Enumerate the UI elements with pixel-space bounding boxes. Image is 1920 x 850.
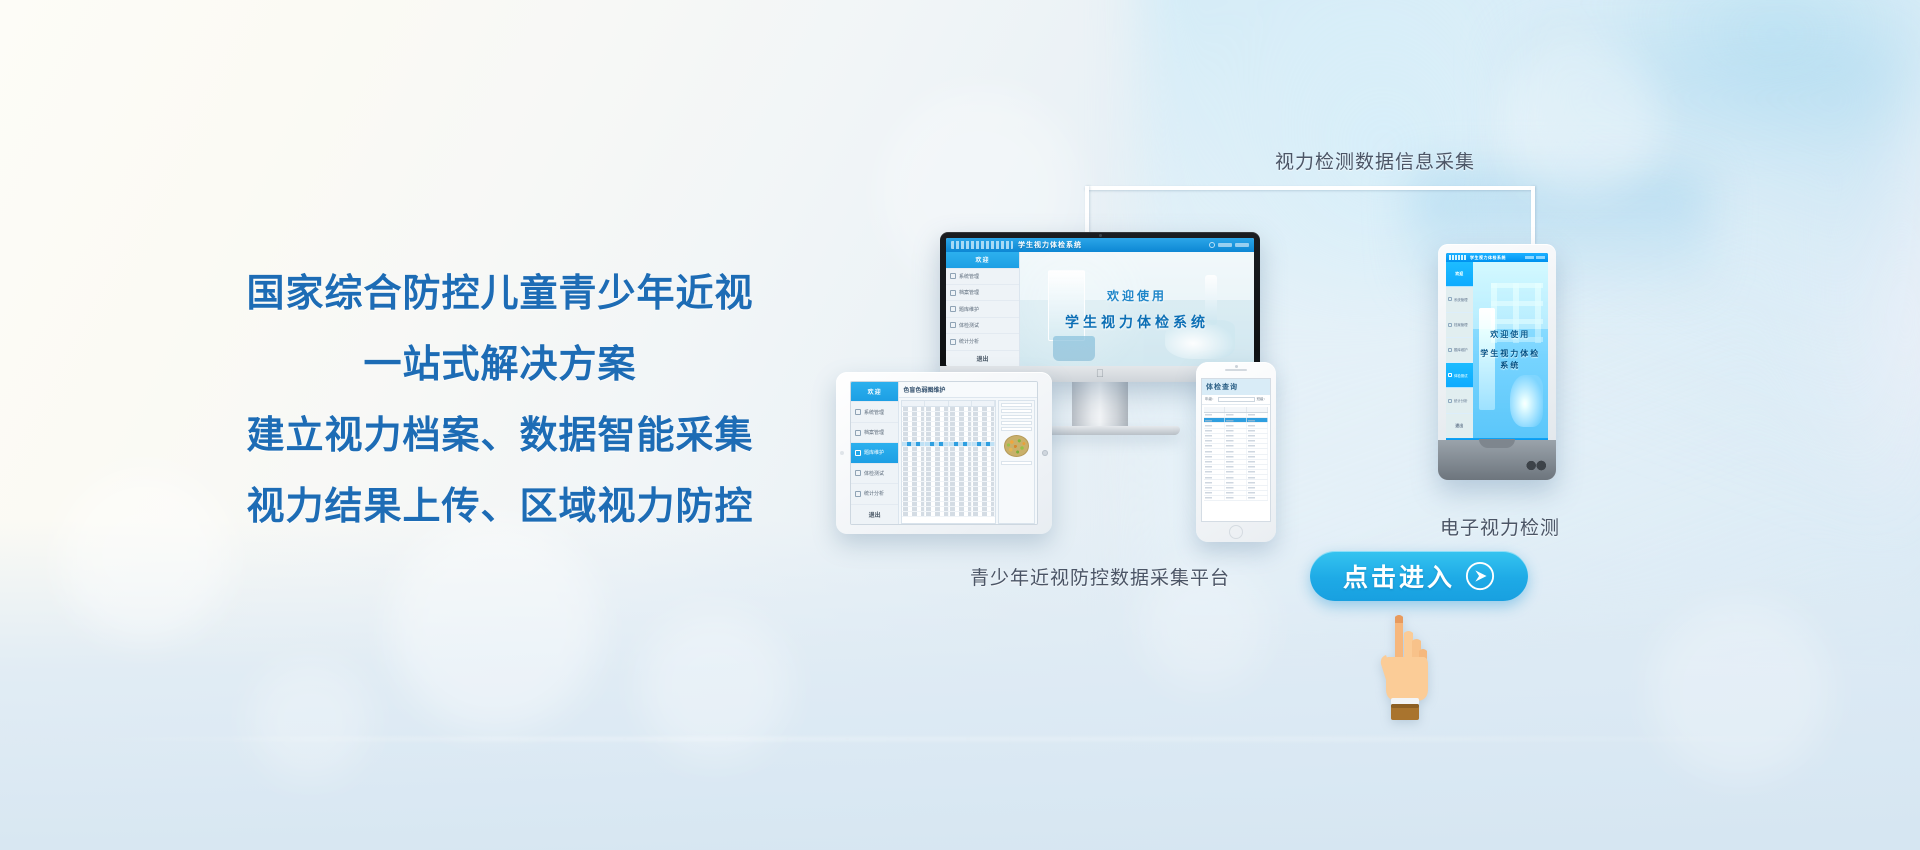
sidebar-item-exam[interactable]: 体检测试 bbox=[1446, 363, 1473, 388]
headline-line-2: 一站式解决方案 bbox=[180, 329, 820, 400]
phone-home-button[interactable] bbox=[1229, 525, 1243, 539]
sidebar-item-exam[interactable]: 体检测试 bbox=[946, 318, 1019, 334]
database-icon bbox=[855, 450, 861, 456]
kiosk-welcome-line-2: 学生视力体检系统 bbox=[1477, 348, 1544, 372]
sidebar-label: 档案管理 bbox=[1454, 322, 1468, 327]
sidebar-label: 系统管理 bbox=[959, 273, 979, 280]
account-label bbox=[1218, 243, 1232, 247]
sidebar-label: 退出 bbox=[869, 510, 881, 519]
circle-arrow-right-icon bbox=[1465, 561, 1495, 591]
phone-page-title: 体检查询 bbox=[1202, 379, 1270, 395]
clipboard-icon bbox=[950, 322, 956, 328]
sidebar-item-exam[interactable]: 体检测试 bbox=[851, 464, 898, 484]
kiosk-screen[interactable]: 学生视力体检系统 欢迎 系统管理 档案管理 题库维护 体检测试 统计分析 退出 bbox=[1446, 253, 1548, 443]
sidebar-label: 欢迎 bbox=[868, 387, 882, 396]
kiosk-account-area[interactable] bbox=[1525, 256, 1545, 259]
sidebar-item-system[interactable]: 系统管理 bbox=[1446, 287, 1473, 312]
kiosk-chin-notch bbox=[1479, 439, 1515, 448]
database-icon bbox=[1448, 348, 1452, 352]
sidebar-item-archive[interactable]: 档案管理 bbox=[851, 423, 898, 443]
folder-icon bbox=[950, 290, 956, 296]
sidebar-item-question-bank[interactable]: 题库维护 bbox=[851, 443, 898, 463]
ishihara-color-plate-icon bbox=[1004, 435, 1029, 457]
tablet-sidebar: 欢迎 系统管理 档案管理 题库维护 体检测试 统计分析 退出 bbox=[851, 382, 899, 524]
clipboard-icon bbox=[1448, 373, 1452, 377]
sidebar-item-exit[interactable]: 退出 bbox=[851, 505, 898, 524]
form-field[interactable] bbox=[1001, 427, 1032, 431]
panel-buttons[interactable] bbox=[1001, 461, 1032, 465]
desktop-app: 学生视力体检系统 欢迎 系统管理 档案管理 题库维护 bbox=[946, 238, 1254, 366]
connector-leg-right bbox=[1531, 186, 1535, 244]
headline: 国家综合防控儿童青少年近视 一站式解决方案 建立视力档案、数据智能采集 视力结果… bbox=[180, 258, 820, 542]
sidebar-label: 退出 bbox=[1455, 423, 1463, 429]
sidebar-item-system[interactable]: 系统管理 bbox=[946, 269, 1019, 285]
sidebar-label: 题库维护 bbox=[959, 306, 979, 313]
sidebar-label: 统计分析 bbox=[959, 338, 979, 345]
account-area[interactable] bbox=[1209, 242, 1249, 248]
kiosk-content: 欢迎使用 学生视力体检系统 bbox=[1473, 262, 1548, 438]
kiosk-app-header: 学生视力体检系统 bbox=[1446, 253, 1548, 262]
phone-device: 体检查询 年级： 班级： bbox=[1196, 362, 1276, 542]
monitor-stand-neck bbox=[1072, 382, 1128, 426]
sidebar-label: 体检测试 bbox=[864, 470, 884, 477]
tablet-home-button[interactable] bbox=[1042, 450, 1048, 456]
app-sidebar: 欢迎 系统管理 档案管理 题库维护 体检测试 统计分析 退出 bbox=[946, 252, 1020, 366]
kiosk-speaker-icon bbox=[1524, 460, 1548, 471]
user-avatar-icon bbox=[1209, 242, 1215, 248]
sidebar-label: 统计分析 bbox=[1454, 398, 1468, 403]
folder-icon bbox=[855, 430, 861, 436]
vision-test-kiosk: 学生视力体检系统 欢迎 系统管理 档案管理 题库维护 体检测试 统计分析 退出 bbox=[1438, 244, 1556, 480]
folder-icon bbox=[1448, 323, 1452, 327]
sidebar-label: 档案管理 bbox=[959, 289, 979, 296]
sidebar-label: 题库维护 bbox=[1454, 347, 1468, 352]
bokeh-circle bbox=[250, 660, 370, 780]
kiosk-welcome-line-1: 欢迎使用 bbox=[1490, 329, 1530, 340]
sidebar-label: 系统管理 bbox=[864, 409, 884, 416]
apple-logo-icon:  bbox=[1096, 369, 1104, 380]
webcam-icon bbox=[1099, 234, 1102, 237]
phone-table-rows[interactable] bbox=[1204, 413, 1268, 501]
sidebar-item-archive[interactable]: 档案管理 bbox=[1446, 313, 1473, 338]
database-icon bbox=[950, 306, 956, 312]
list-item[interactable] bbox=[1204, 496, 1268, 501]
class-filter-label: 班级： bbox=[1257, 397, 1268, 402]
pointing-hand-icon bbox=[1378, 613, 1430, 723]
phone-filter-bar[interactable]: 年级： 班级： bbox=[1202, 395, 1270, 405]
enter-button-label: 点击进入 bbox=[1343, 558, 1455, 594]
sidebar-label: 退出 bbox=[976, 354, 988, 363]
app-logo-icon bbox=[951, 241, 1013, 250]
welcome-line-2: 学生视力体检系统 bbox=[1065, 312, 1209, 332]
form-field[interactable] bbox=[1001, 415, 1032, 419]
kiosk-welcome-text-group: 欢迎使用 学生视力体检系统 bbox=[1473, 262, 1548, 438]
app-content: 欢迎使用 学生视力体检系统 bbox=[1020, 252, 1254, 366]
clipboard-icon bbox=[855, 470, 861, 476]
form-field[interactable] bbox=[1001, 421, 1032, 425]
form-field[interactable] bbox=[1001, 409, 1032, 413]
kiosk-base bbox=[1438, 440, 1556, 480]
user-gear-icon bbox=[1448, 297, 1452, 301]
grade-filter-select[interactable] bbox=[1218, 397, 1255, 402]
detail-panel[interactable] bbox=[998, 400, 1035, 524]
tablet-screen[interactable]: 欢迎 系统管理 档案管理 题库维护 体检测试 统计分析 退出 色盲色弱图维护 bbox=[850, 381, 1038, 525]
sidebar-item-welcome[interactable]: 欢迎 bbox=[946, 252, 1019, 268]
kiosk-app-body: 欢迎 系统管理 档案管理 题库维护 体检测试 统计分析 退出 bbox=[1446, 262, 1548, 438]
phone-speaker-icon bbox=[1225, 369, 1247, 371]
phone-camera-icon bbox=[1235, 365, 1238, 368]
bokeh-circle bbox=[1650, 600, 1830, 780]
sidebar-label: 统计分析 bbox=[864, 490, 884, 497]
tablet-device: 欢迎 系统管理 档案管理 题库维护 体检测试 统计分析 退出 色盲色弱图维护 bbox=[836, 372, 1052, 534]
table-rows[interactable] bbox=[902, 407, 994, 517]
sidebar-label: 体检测试 bbox=[959, 322, 979, 329]
grade-filter-label: 年级： bbox=[1205, 397, 1216, 402]
tablet-app: 欢迎 系统管理 档案管理 题库维护 体检测试 统计分析 退出 色盲色弱图维护 bbox=[851, 382, 1037, 524]
kiosk-sidebar: 欢迎 系统管理 档案管理 题库维护 体检测试 统计分析 退出 bbox=[1446, 262, 1473, 438]
tablet-content: 色盲色弱图维护 bbox=[899, 382, 1037, 524]
sidebar-item-statistics[interactable]: 统计分析 bbox=[1446, 388, 1473, 413]
user-gear-icon bbox=[950, 273, 956, 279]
app-body: 欢迎 系统管理 档案管理 题库维护 体检测试 统计分析 退出 bbox=[946, 252, 1254, 366]
bokeh-circle bbox=[390, 520, 600, 730]
welcome-screen: 欢迎使用 学生视力体检系统 bbox=[1020, 252, 1254, 366]
connector-bar bbox=[1085, 186, 1535, 190]
sidebar-label: 系统管理 bbox=[1454, 297, 1468, 302]
headline-line-1: 国家综合防控儿童青少年近视 bbox=[180, 258, 820, 329]
phone-screen[interactable]: 体检查询 年级： 班级： bbox=[1201, 378, 1271, 522]
banner-stage: 国家综合防控儿童青少年近视 一站式解决方案 建立视力档案、数据智能采集 视力结果… bbox=[0, 0, 1920, 850]
sidebar-item-statistics[interactable]: 统计分析 bbox=[851, 484, 898, 504]
page-body bbox=[899, 398, 1037, 524]
sidebar-item-question-bank[interactable]: 题库维护 bbox=[1446, 338, 1473, 363]
headline-line-4: 视力结果上传、区域视力防控 bbox=[180, 471, 820, 542]
form-field[interactable] bbox=[1001, 403, 1032, 407]
phone-table[interactable] bbox=[1202, 405, 1270, 503]
tablet-camera-icon bbox=[840, 451, 844, 455]
headline-line-3: 建立视力档案、数据智能采集 bbox=[180, 400, 820, 471]
sidebar-item-welcome[interactable]: 欢迎 bbox=[851, 382, 898, 402]
monitor-screen[interactable]: 学生视力体检系统 欢迎 系统管理 档案管理 题库维护 bbox=[946, 238, 1254, 366]
sidebar-item-system[interactable]: 系统管理 bbox=[851, 402, 898, 422]
bokeh-circle bbox=[640, 610, 790, 760]
app-logo-icon bbox=[1449, 255, 1467, 260]
sidebar-item-archive[interactable]: 档案管理 bbox=[946, 285, 1019, 301]
kiosk-app-title: 学生视力体检系统 bbox=[1470, 255, 1506, 261]
page-title: 色盲色弱图维护 bbox=[899, 382, 1037, 398]
logout-button[interactable] bbox=[1235, 243, 1249, 247]
data-table[interactable] bbox=[901, 400, 995, 524]
sidebar-item-welcome[interactable]: 欢迎 bbox=[1446, 262, 1473, 287]
connector-label: 视力检测数据信息采集 bbox=[1215, 147, 1535, 174]
bokeh-circle bbox=[1500, 40, 1660, 200]
table-row[interactable] bbox=[902, 512, 994, 517]
sidebar-item-statistics[interactable]: 统计分析 bbox=[946, 334, 1019, 350]
sidebar-label: 档案管理 bbox=[864, 429, 884, 436]
caption-device: 电子视力检测 bbox=[1370, 513, 1630, 540]
sidebar-label: 欢迎 bbox=[1455, 271, 1463, 277]
app-title: 学生视力体检系统 bbox=[1018, 240, 1082, 250]
sidebar-label: 题库维护 bbox=[864, 449, 884, 456]
monitor-bezel: 学生视力体检系统 欢迎 系统管理 档案管理 题库维护 bbox=[940, 232, 1260, 382]
caption-platform: 青少年近视防控数据采集平台 bbox=[890, 563, 1310, 590]
app-header: 学生视力体检系统 bbox=[946, 238, 1254, 252]
sidebar-label: 体检测试 bbox=[1454, 373, 1468, 378]
sidebar-item-exit[interactable]: 退出 bbox=[946, 351, 1019, 366]
user-gear-icon bbox=[855, 409, 861, 415]
tablet-app-body: 欢迎 系统管理 档案管理 题库维护 体检测试 统计分析 退出 色盲色弱图维护 bbox=[851, 382, 1037, 524]
welcome-line-1: 欢迎使用 bbox=[1107, 287, 1167, 304]
sidebar-item-question-bank[interactable]: 题库维护 bbox=[946, 301, 1019, 317]
chart-pie-icon bbox=[855, 491, 861, 497]
welcome-text-group: 欢迎使用 学生视力体检系统 bbox=[1020, 252, 1254, 366]
sidebar-label: 欢迎 bbox=[975, 255, 989, 264]
sidebar-item-exit[interactable]: 退出 bbox=[1446, 414, 1473, 438]
kiosk-app: 学生视力体检系统 欢迎 系统管理 档案管理 题库维护 体检测试 统计分析 退出 bbox=[1446, 253, 1548, 443]
enter-button[interactable]: 点击进入 bbox=[1310, 551, 1528, 601]
chart-pie-icon bbox=[1448, 399, 1452, 403]
chart-pie-icon bbox=[950, 339, 956, 345]
